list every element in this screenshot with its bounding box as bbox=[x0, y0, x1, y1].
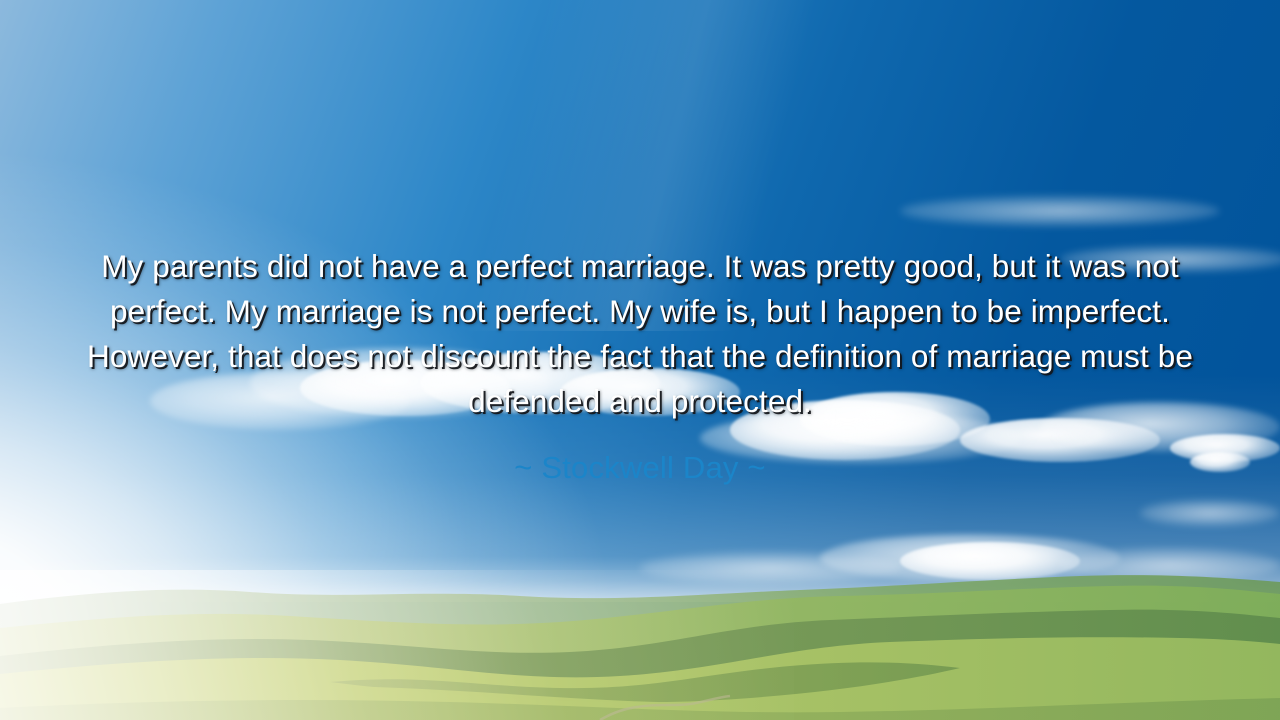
quote-image: My parents did not have a perfect marria… bbox=[0, 0, 1280, 720]
quote-attribution: ~ Stockwell Day ~ bbox=[54, 424, 1226, 488]
rolling-hills-landscape bbox=[0, 570, 1280, 720]
quote-text: My parents did not have a perfect marria… bbox=[54, 244, 1226, 424]
quote-block: My parents did not have a perfect marria… bbox=[0, 244, 1280, 488]
